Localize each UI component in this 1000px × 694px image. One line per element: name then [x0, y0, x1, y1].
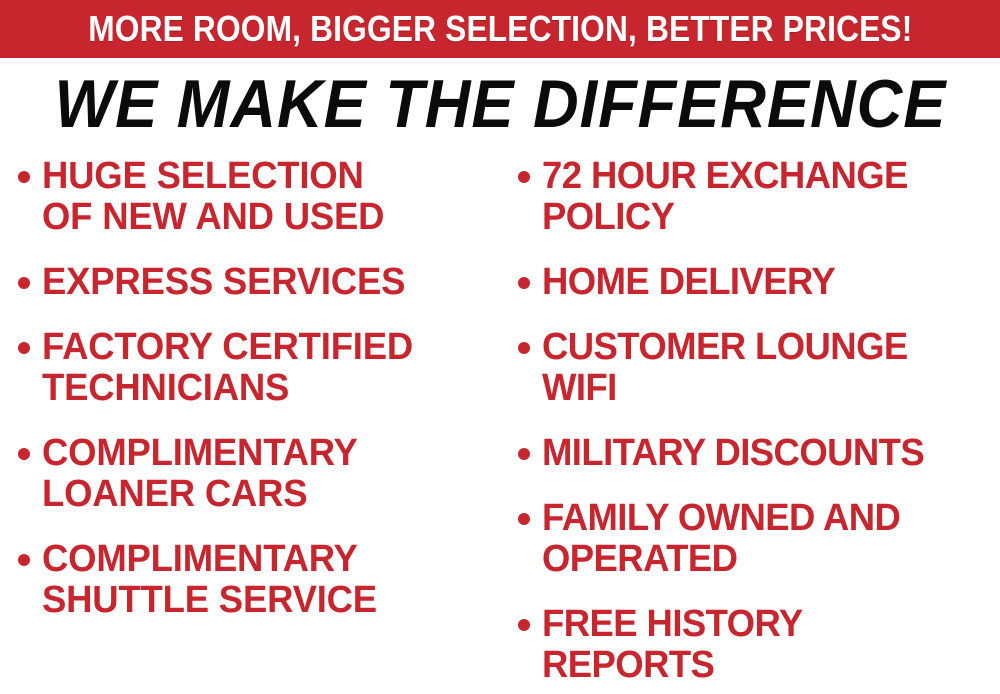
bullet-dot-icon [518, 342, 530, 354]
top-banner: MORE ROOM, BIGGER SELECTION, BETTER PRIC… [0, 0, 1000, 58]
benefit-label: FACTORY CERTIFIED TECHNICIANS [42, 327, 413, 409]
benefit-label: FREE HISTORY REPORTS [542, 604, 803, 686]
bullet-dot-icon [518, 277, 530, 289]
headline-area: WE MAKE THE DIFFERENCE [0, 66, 1000, 142]
page-title: WE MAKE THE DIFFERENCE [54, 70, 946, 138]
benefit-label: HUGE SELECTION OF NEW AND USED [42, 156, 384, 238]
bullet-dot-icon [518, 513, 530, 525]
bullet-dot-icon [518, 171, 530, 183]
bullet-dot-icon [518, 448, 530, 460]
promo-poster: MORE ROOM, BIGGER SELECTION, BETTER PRIC… [0, 0, 1000, 694]
benefit-label: CUSTOMER LOUNGE WIFI [542, 327, 908, 409]
list-item: CUSTOMER LOUNGE WIFI [518, 327, 998, 409]
benefit-label: COMPLIMENTARY LOANER CARS [42, 433, 358, 515]
benefit-label: EXPRESS SERVICES [42, 262, 405, 303]
list-item: FAMILY OWNED AND OPERATED [518, 498, 998, 580]
list-item: MILITARY DISCOUNTS [518, 433, 998, 474]
benefit-label: COMPLIMENTARY SHUTTLE SERVICE [42, 539, 377, 621]
list-item: FREE HISTORY REPORTS [518, 604, 998, 686]
benefit-label: HOME DELIVERY [542, 262, 835, 303]
bullet-dot-icon [518, 619, 530, 631]
list-item: HOME DELIVERY [518, 262, 998, 303]
banner-headline-text: MORE ROOM, BIGGER SELECTION, BETTER PRIC… [88, 11, 912, 47]
benefit-label: MILITARY DISCOUNTS [542, 433, 924, 474]
benefit-label: FAMILY OWNED AND OPERATED [542, 498, 900, 580]
benefits-columns: HUGE SELECTION OF NEW AND USED EXPRESS S… [0, 156, 1000, 676]
benefit-label: 72 HOUR EXCHANGE POLICY [542, 156, 908, 238]
list-item: 72 HOUR EXCHANGE POLICY [518, 156, 998, 238]
